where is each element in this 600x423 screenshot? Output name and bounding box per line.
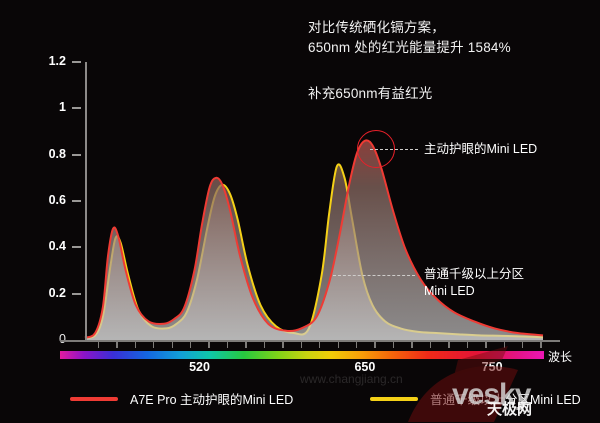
series-line-2	[85, 164, 543, 337]
chart-root: 对比传统硒化镉方案， 650nm 处的红光能量提升 1584% 补充650nm有…	[0, 0, 600, 423]
callout-bottom-label-2: Mini LED	[424, 283, 475, 300]
watermark-cn-name: 天极网	[487, 398, 532, 419]
callout-top-label: 主动护眼的Mini LED	[424, 141, 537, 158]
series-line-1	[85, 140, 543, 337]
x-axis-tick-label: 520	[170, 360, 230, 374]
y-axis-line	[85, 62, 87, 341]
callout-top-leader-line	[370, 149, 418, 150]
x-axis-tick-label: 750	[462, 360, 522, 374]
x-axis-title: 波长	[548, 348, 572, 365]
watermark-ghost-url: www.changjiang.cn	[300, 372, 403, 386]
callout-bottom-leader-line	[333, 275, 415, 276]
callout-bottom-label-1: 普通千级以上分区	[424, 266, 524, 283]
legend-swatch-series-2	[370, 397, 418, 401]
legend-item-series-1: A7E Pro 主动护眼的Mini LED	[70, 389, 293, 408]
legend-label-series-1: A7E Pro 主动护眼的Mini LED	[130, 389, 293, 408]
spectrum-color-bar	[60, 351, 544, 359]
legend-swatch-series-1	[70, 397, 118, 401]
x-axis-line	[60, 340, 560, 342]
